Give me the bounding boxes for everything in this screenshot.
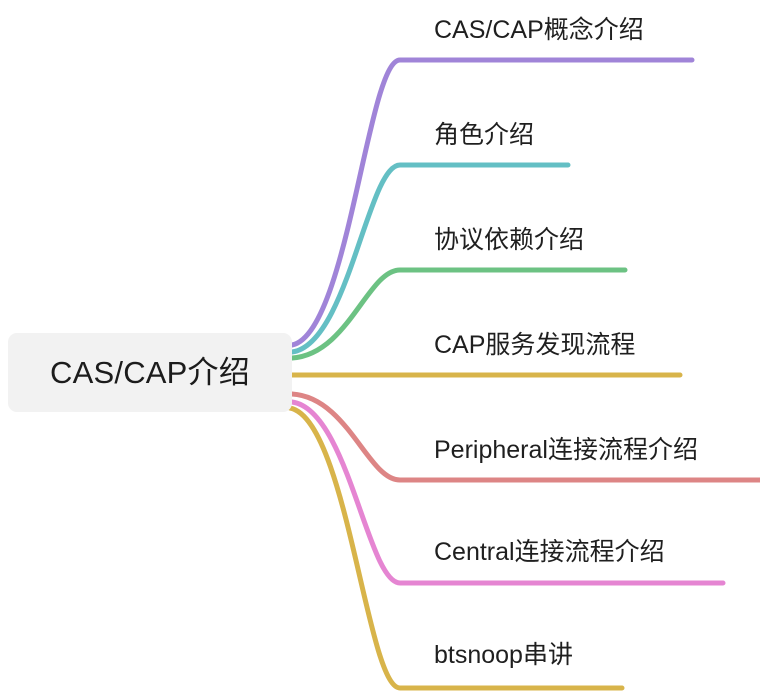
branch-label-1[interactable]: 角色介绍: [434, 123, 534, 148]
branch-label-5[interactable]: Central连接流程介绍: [434, 540, 665, 565]
branch-label-0[interactable]: CAS/CAP概念介绍: [434, 18, 644, 43]
branch-connector-0: [292, 60, 692, 345]
branch-connector-1: [292, 165, 568, 352]
mindmap-canvas: CAS/CAP介绍 CAS/CAP概念介绍 角色介绍 协议依赖介绍 CAP服务发…: [0, 0, 760, 694]
branch-label-3[interactable]: CAP服务发现流程: [434, 333, 635, 358]
root-node-label: CAS/CAP介绍: [50, 357, 250, 388]
branch-label-2[interactable]: 协议依赖介绍: [434, 228, 584, 253]
branch-label-4[interactable]: Peripheral连接流程介绍: [434, 438, 698, 463]
branch-label-6[interactable]: btsnoop串讲: [434, 643, 573, 668]
root-node[interactable]: CAS/CAP介绍: [8, 333, 292, 412]
